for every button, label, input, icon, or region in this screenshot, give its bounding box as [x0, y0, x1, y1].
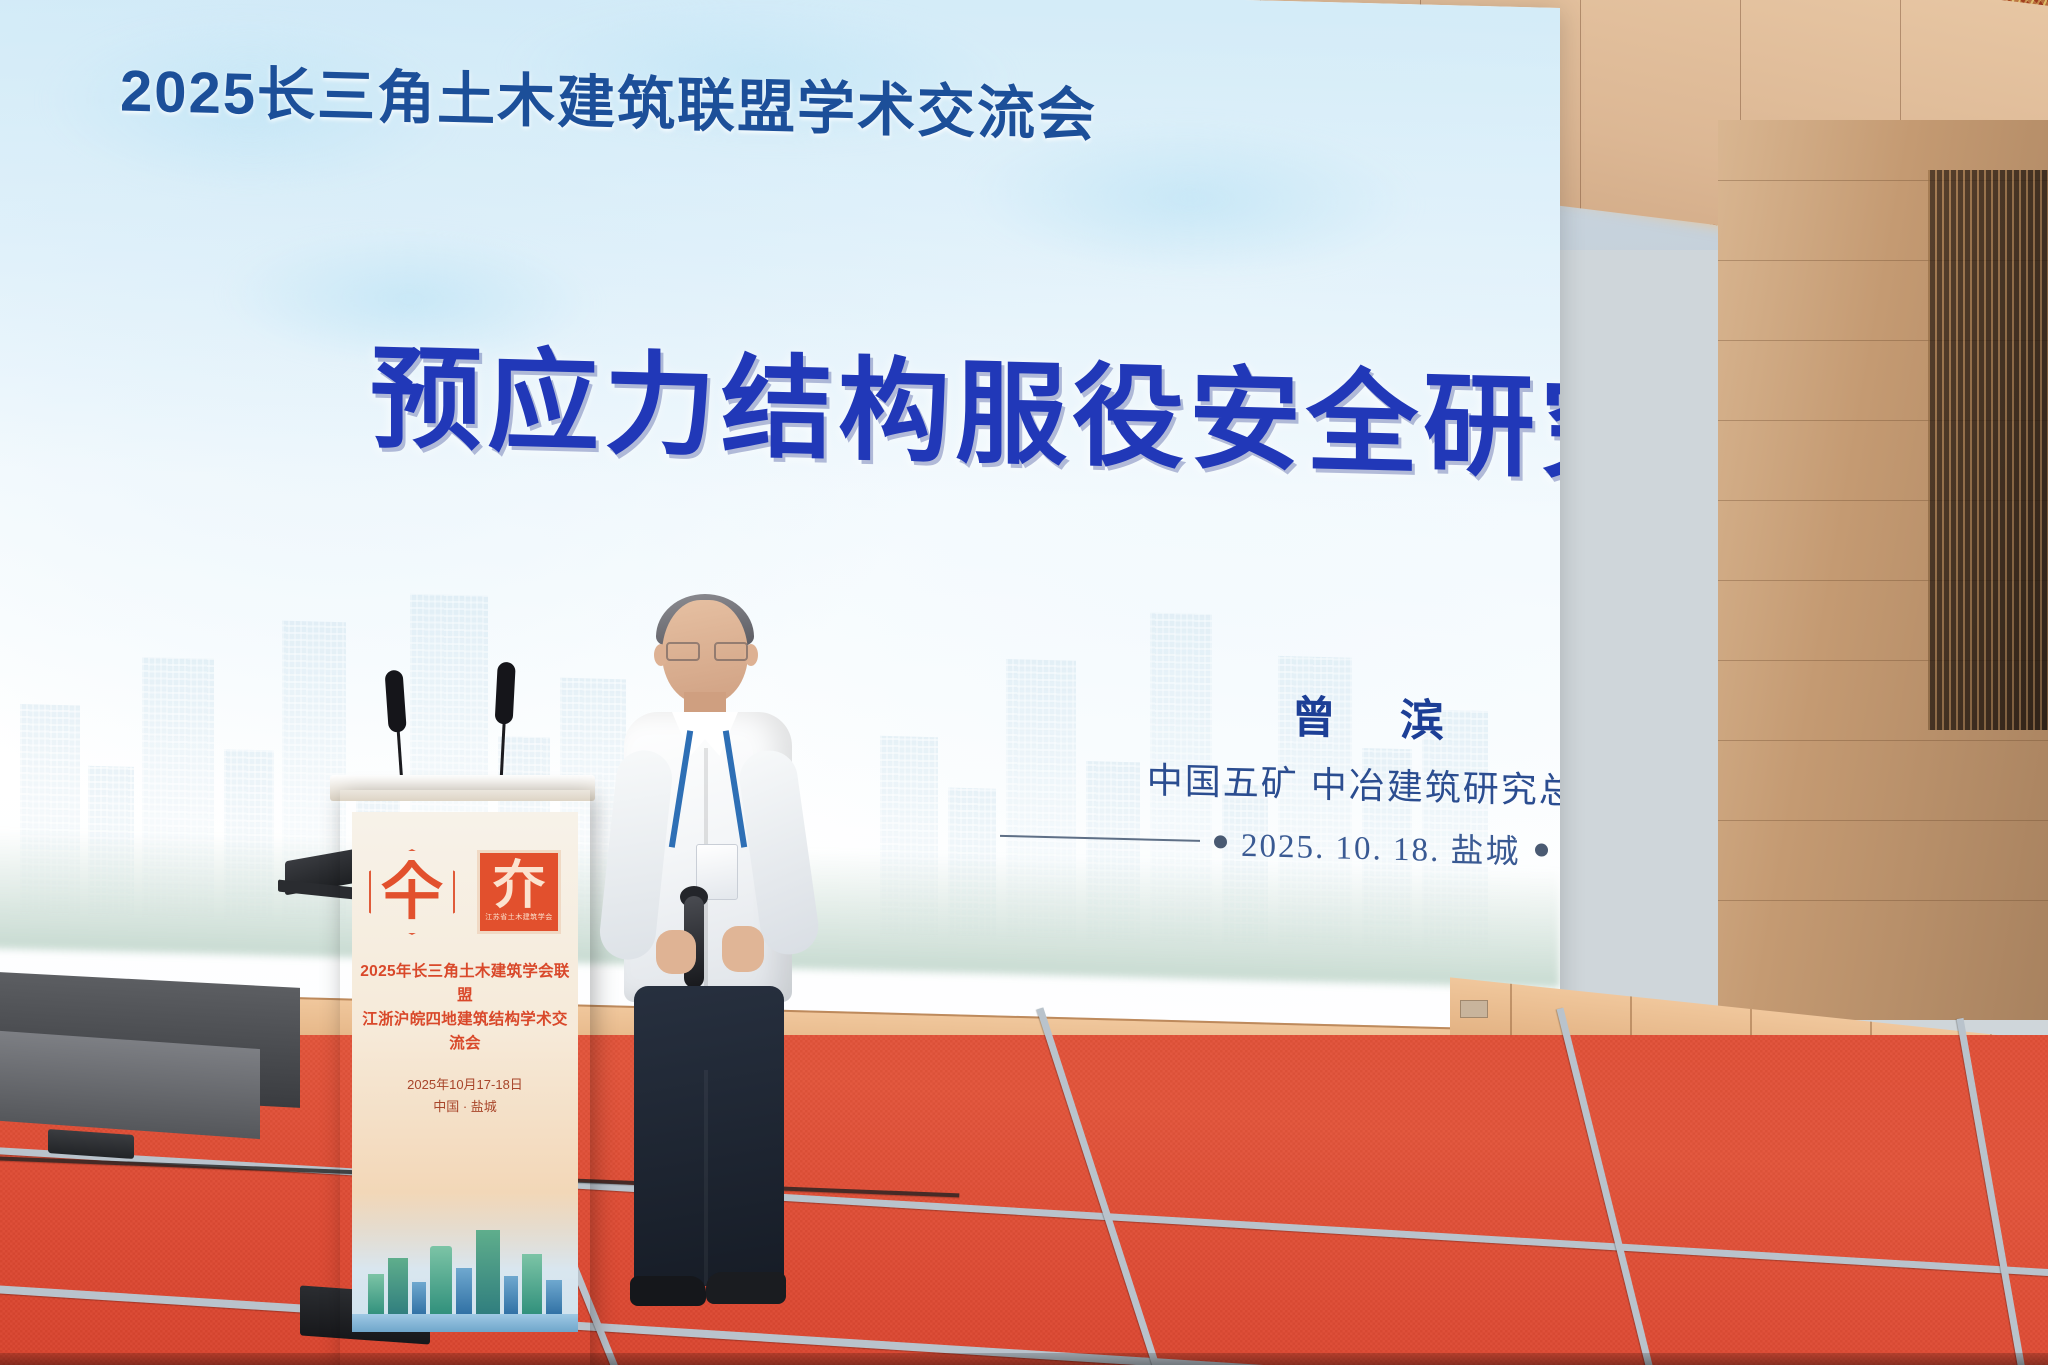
lectern-banner-logos: 仐 夰 江苏省土木建筑学会	[352, 838, 578, 946]
lectern-banner-title: 2025年长三角土木建筑学会联盟 江浙沪皖四地建筑结构学术交流会	[360, 960, 570, 1056]
speaker-date-location: 2025. 10. 18. 盐城	[1241, 818, 1521, 873]
lectern-banner-city: 中国 · 盐城	[352, 1096, 578, 1118]
wall-outlet	[1460, 1000, 1488, 1018]
presenter-trousers	[634, 986, 784, 1286]
left-stage-riser	[0, 1031, 260, 1139]
presenter-shoe-right	[706, 1272, 786, 1304]
lectern-banner-title-line-2: 江浙沪皖四地建筑结构学术交流会	[360, 1008, 570, 1056]
floor-seam-d4	[1957, 1018, 2037, 1365]
lectern-banner-city-illustration	[352, 1192, 578, 1332]
floor-seam-d3	[1557, 1008, 1673, 1365]
lectern-banner-water	[352, 1314, 578, 1332]
lectern-banner-date: 2025年10月17-18日	[352, 1074, 578, 1096]
lectern-banner-title-line-1: 2025年长三角土木建筑学会联盟	[360, 960, 570, 1008]
conference-photo-scene: 2025长三角土木建筑联盟学术交流会 预应力结构服役安全研究进展 曾 滨 中国五…	[0, 0, 2048, 1365]
speaker-organization: 中国五矿 中冶建筑研究总院	[1000, 748, 1560, 819]
floor-seam-h1	[0, 1145, 2048, 1282]
floor-seam-d2	[1037, 1007, 1186, 1365]
speaker-name: 曾 滨	[1000, 674, 1560, 757]
presenter-shoe-left	[630, 1276, 706, 1306]
presenter	[600, 600, 820, 1320]
lectern-banner-date-block: 2025年10月17-18日 中国 · 盐城	[352, 1074, 578, 1118]
presenter-hand-left	[656, 930, 696, 974]
presenter-hand-right	[722, 926, 764, 972]
dot-right-icon	[1535, 843, 1548, 856]
lectern-banner: 仐 夰 江苏省土木建筑学会 2025年长三角土木建筑学会联盟 江浙沪皖四地建筑结…	[352, 812, 578, 1332]
presenter-glasses-icon	[666, 642, 746, 658]
alliance-hex-logo-icon: 仐	[369, 849, 455, 935]
society-logo-caption: 江苏省土木建筑学会	[480, 914, 558, 923]
stage-front-edge	[0, 1353, 2048, 1365]
rule-left	[1000, 835, 1200, 842]
society-logo-glyph: 夰	[493, 860, 545, 912]
slide-speaker-block: 曾 滨 中国五矿 中冶建筑研究总院 2025. 10. 18. 盐城	[1000, 674, 1560, 879]
presenter-leg-seam	[704, 1070, 708, 1286]
dot-left-icon	[1214, 835, 1227, 848]
alliance-hex-logo-glyph: 仐	[381, 862, 443, 924]
right-wall-decorative-screen	[1928, 170, 2048, 730]
society-square-logo-icon: 夰 江苏省土木建筑学会	[477, 850, 561, 934]
